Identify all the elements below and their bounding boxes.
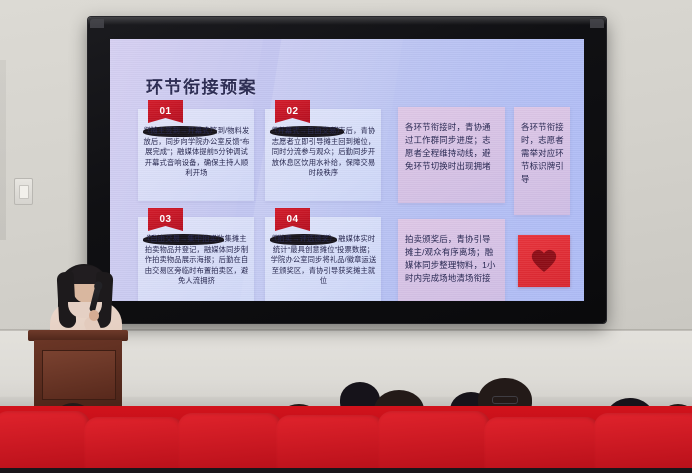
numbered-card-03: 03 （自由交易→集中拍卖） 衔接：青协提前1小时收集摊主拍卖物品并登记，融媒体… — [138, 217, 254, 301]
bezel-corner-top-left — [90, 19, 104, 28]
presenter-hair-left — [57, 272, 77, 329]
pink-card-2-text: 各环节衔接时，志愿者需举对应环节标识牌引导 — [521, 121, 564, 186]
seat — [0, 411, 90, 473]
audience-glasses-icon — [492, 396, 518, 404]
presenter-hand — [89, 310, 99, 321]
card-03-text: （自由交易→集中拍卖） 衔接：青协提前1小时收集摊主拍卖物品并登记，融媒体同步制… — [143, 234, 250, 287]
pink-card-1: 各环节衔接时，青协通过工作群同步进度；志愿者全程维持动线，避免环节切换时出现拥堵 — [398, 107, 505, 203]
card-badge-02: 02 — [275, 100, 310, 123]
pink-card-1-text: 各环节衔接时，青协通过工作群同步进度；志愿者全程维持动线，避免环节切换时出现拥堵 — [405, 121, 499, 173]
wall-light-switch[interactable] — [14, 178, 33, 205]
card-01-text: （摊主签到→开幕式） 衔接：青协完成摊主签到/物料发放后，同步向学院办公室反馈“… — [143, 126, 250, 179]
seat — [594, 413, 692, 473]
podium-front-panel — [42, 350, 116, 400]
card-badge-01: 01 — [148, 100, 183, 123]
card-02-heading: （开幕式→自由交易） — [270, 126, 344, 137]
card-04-heading: （拍卖→评选颁奖） — [270, 234, 337, 245]
card-01-heading: （摊主签到→开幕式） — [143, 126, 217, 137]
bezel-highlight — [88, 17, 606, 25]
card-badge-04: 04 — [275, 208, 310, 231]
seat — [484, 417, 600, 473]
slide-title: 环节衔接预案 — [146, 73, 257, 98]
numbered-card-01: 01 （摊主签到→开幕式） 衔接：青协完成摊主签到/物料发放后，同步向学院办公室… — [138, 109, 254, 201]
numbered-card-02: 02 （开幕式→自由交易） 衔接：开幕式抽奖结束后，青协志愿者立即引导摊主回到摊… — [265, 109, 381, 201]
heart-icon — [531, 249, 557, 273]
bezel-corner-top-right — [590, 19, 604, 28]
lecture-hall-scene: 环节衔接预案 01 （摊主签到→开幕式） 衔接：青协完成摊主签到/物料发放后，同… — [0, 0, 692, 473]
seat — [276, 415, 384, 473]
floor-edge — [0, 468, 692, 473]
seat — [84, 417, 184, 473]
seat — [378, 411, 490, 473]
card-badge-03: 03 — [148, 208, 183, 231]
card-02-text: （开幕式→自由交易） 衔接：开幕式抽奖结束后，青协志愿者立即引导摊主回到摊位，同… — [270, 126, 377, 179]
card-04-text: （拍卖→评选颁奖） 衔接：拍卖结束后，融媒体实时统计“最具创意摊位”投票数据；学… — [270, 234, 377, 287]
wall-vent-strip — [0, 60, 6, 240]
pink-card-3: 拍卖颁奖后，青协引导摊主/观众有序离场；融媒体同步整理物料，1小时内完成场地清场… — [398, 219, 505, 301]
display-screen-bezel: 环节衔接预案 01 （摊主签到→开幕式） 衔接：青协完成摊主签到/物料发放后，同… — [88, 17, 606, 323]
auditorium-seating — [0, 406, 692, 473]
seat — [178, 413, 282, 473]
presentation-slide: 环节衔接预案 01 （摊主签到→开幕式） 衔接：青协完成摊主签到/物料发放后，同… — [110, 39, 584, 301]
pink-card-3-text: 拍卖颁奖后，青协引导摊主/观众有序离场；融媒体同步整理物料，1小时内完成场地清场… — [405, 233, 499, 285]
heart-accent-box — [518, 235, 570, 287]
pink-card-2: 各环节衔接时，志愿者需举对应环节标识牌引导 — [514, 107, 570, 215]
numbered-card-04: 04 （拍卖→评选颁奖） 衔接：拍卖结束后，融媒体实时统计“最具创意摊位”投票数… — [265, 217, 381, 301]
card-03-heading: （自由交易→集中拍卖） — [143, 234, 224, 245]
